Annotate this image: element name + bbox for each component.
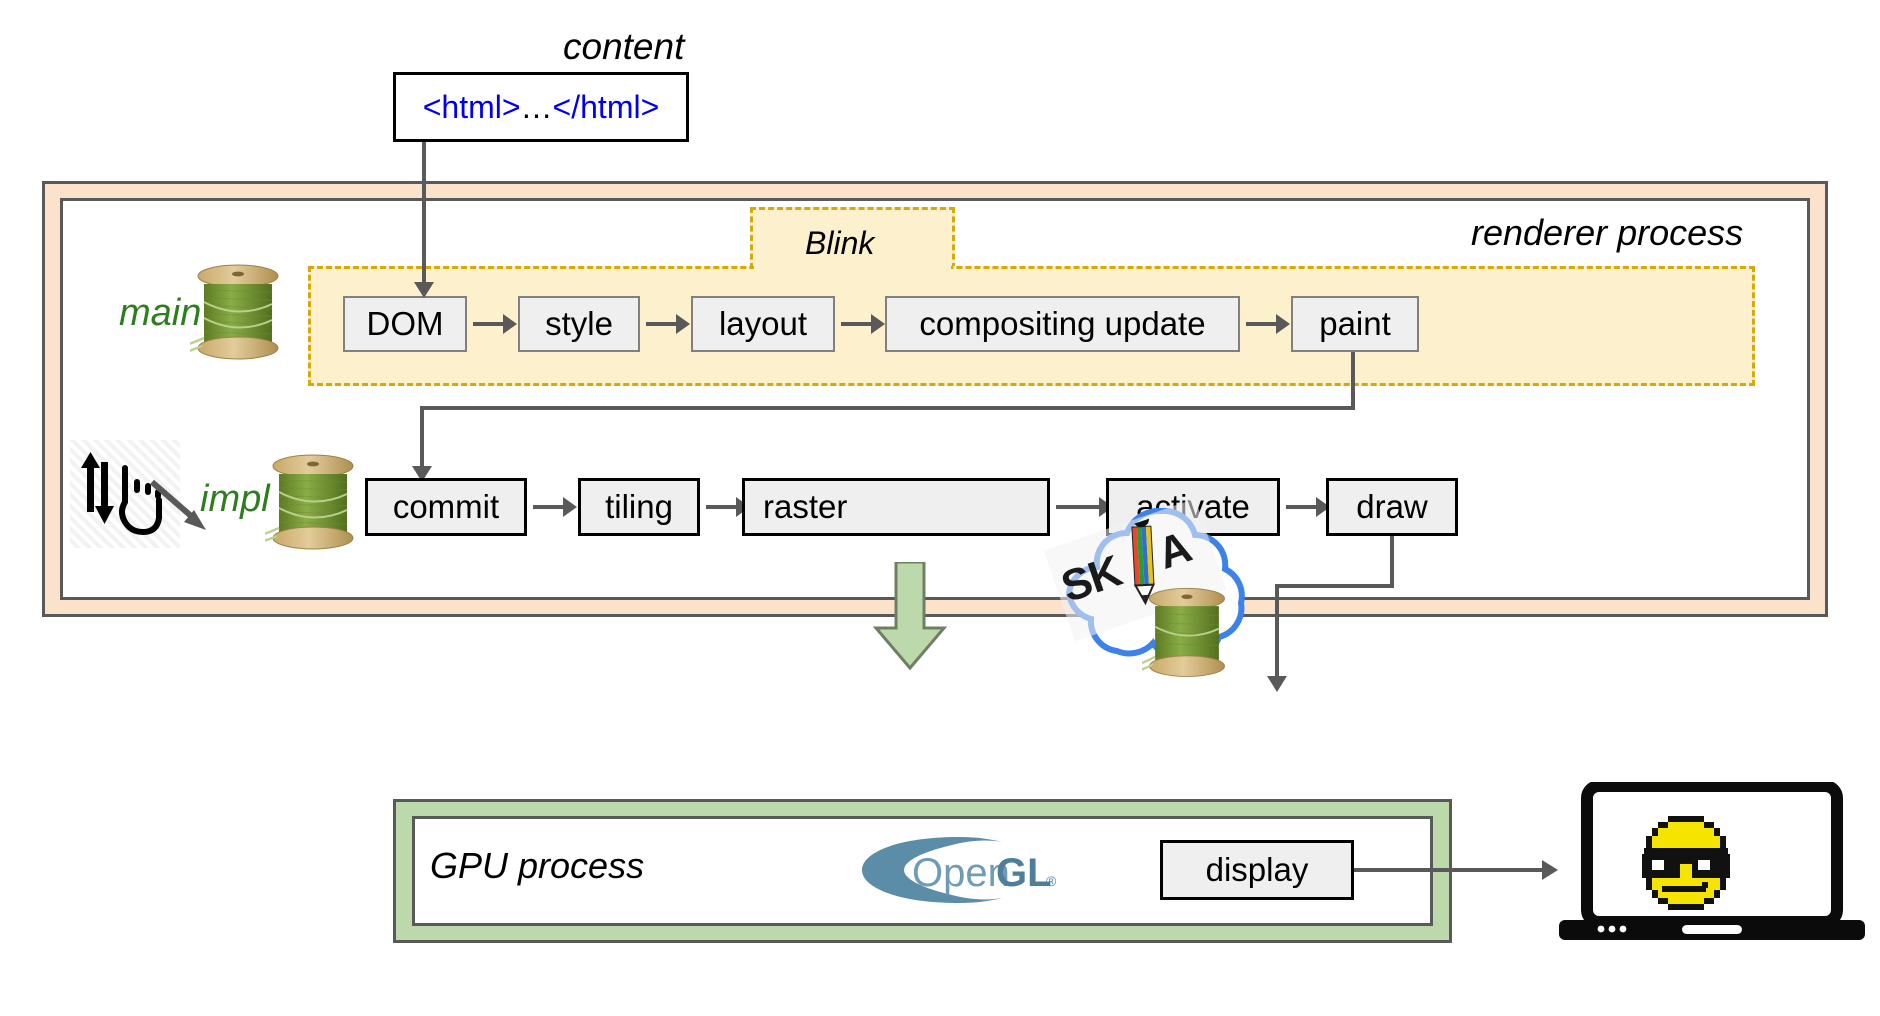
stage-draw-label: draw — [1356, 488, 1428, 526]
stage-dom[interactable]: DOM — [343, 296, 467, 352]
arrow-tiling-to-raster — [706, 505, 737, 509]
connector-paint-to-commit-h — [420, 406, 1355, 410]
blink-label: Blink — [805, 225, 874, 262]
arrowhead-content-to-dom — [414, 282, 434, 298]
connector-draw-down — [1390, 536, 1394, 588]
connector-display-down — [1275, 584, 1279, 682]
stage-tiling-label: tiling — [605, 488, 673, 526]
svg-text:GL: GL — [996, 851, 1052, 895]
connector-display-to-laptop — [1354, 868, 1546, 872]
renderer-process-label: renderer process — [1471, 212, 1743, 254]
arrow-commit-to-tiling — [533, 505, 564, 509]
content-open-tag: <html> — [423, 89, 521, 125]
impl-thread-label: impl — [200, 478, 270, 521]
content-box[interactable]: <html>…</html> — [393, 72, 689, 142]
connector-content-to-dom — [422, 142, 426, 284]
thread-spool-icon-impl — [265, 452, 361, 564]
stage-raster-label: raster — [763, 488, 847, 526]
arrow-dom-to-style — [473, 322, 504, 326]
blink-region-seam — [754, 264, 951, 272]
gpu-process-label: GPU process — [430, 845, 644, 887]
connector-draw-to-display-h — [1275, 584, 1394, 588]
opengl-logo: Open GL ® — [856, 833, 1056, 907]
connector-paint-down — [1351, 352, 1355, 410]
stage-style-label: style — [545, 305, 613, 343]
arrow-style-to-layout — [646, 322, 677, 326]
thread-spool-icon-main — [190, 262, 286, 374]
content-ellipsis: … — [521, 89, 553, 125]
svg-text:®: ® — [1046, 873, 1056, 889]
arrow-layout-to-compositing — [841, 322, 872, 326]
stage-draw[interactable]: draw — [1326, 478, 1458, 536]
stage-commit-label: commit — [393, 488, 499, 526]
content-label: content — [563, 26, 684, 68]
stage-display-label: display — [1206, 851, 1309, 889]
content-close-tag: </html> — [553, 89, 660, 125]
stage-style[interactable]: style — [518, 296, 640, 352]
stage-display[interactable]: display — [1160, 840, 1354, 900]
stage-compositing-update[interactable]: compositing update — [885, 296, 1240, 352]
stage-tiling[interactable]: tiling — [578, 478, 700, 536]
stage-paint-label: paint — [1319, 305, 1391, 343]
arrow-compositing-to-paint — [1246, 322, 1277, 326]
stage-paint[interactable]: paint — [1291, 296, 1419, 352]
arrowhead-to-laptop — [1542, 860, 1558, 880]
arrow-activate-to-draw — [1286, 505, 1317, 509]
stage-raster[interactable]: raster — [742, 478, 1050, 536]
stage-layout[interactable]: layout — [691, 296, 835, 352]
thread-spool-icon-skia — [1142, 585, 1232, 691]
stage-compositing-update-label: compositing update — [919, 305, 1205, 343]
stage-dom-label: DOM — [367, 305, 444, 343]
stage-layout-label: layout — [719, 305, 807, 343]
diagram-canvas: content <html>…</html> renderer process … — [0, 0, 1880, 1016]
sunglasses-face-icon — [1632, 812, 1740, 916]
green-block-arrow-skia-to-gpu — [870, 562, 950, 672]
stage-commit[interactable]: commit — [365, 478, 527, 536]
arrowhead-to-display — [1267, 676, 1287, 692]
connector-commit-down — [420, 406, 424, 468]
